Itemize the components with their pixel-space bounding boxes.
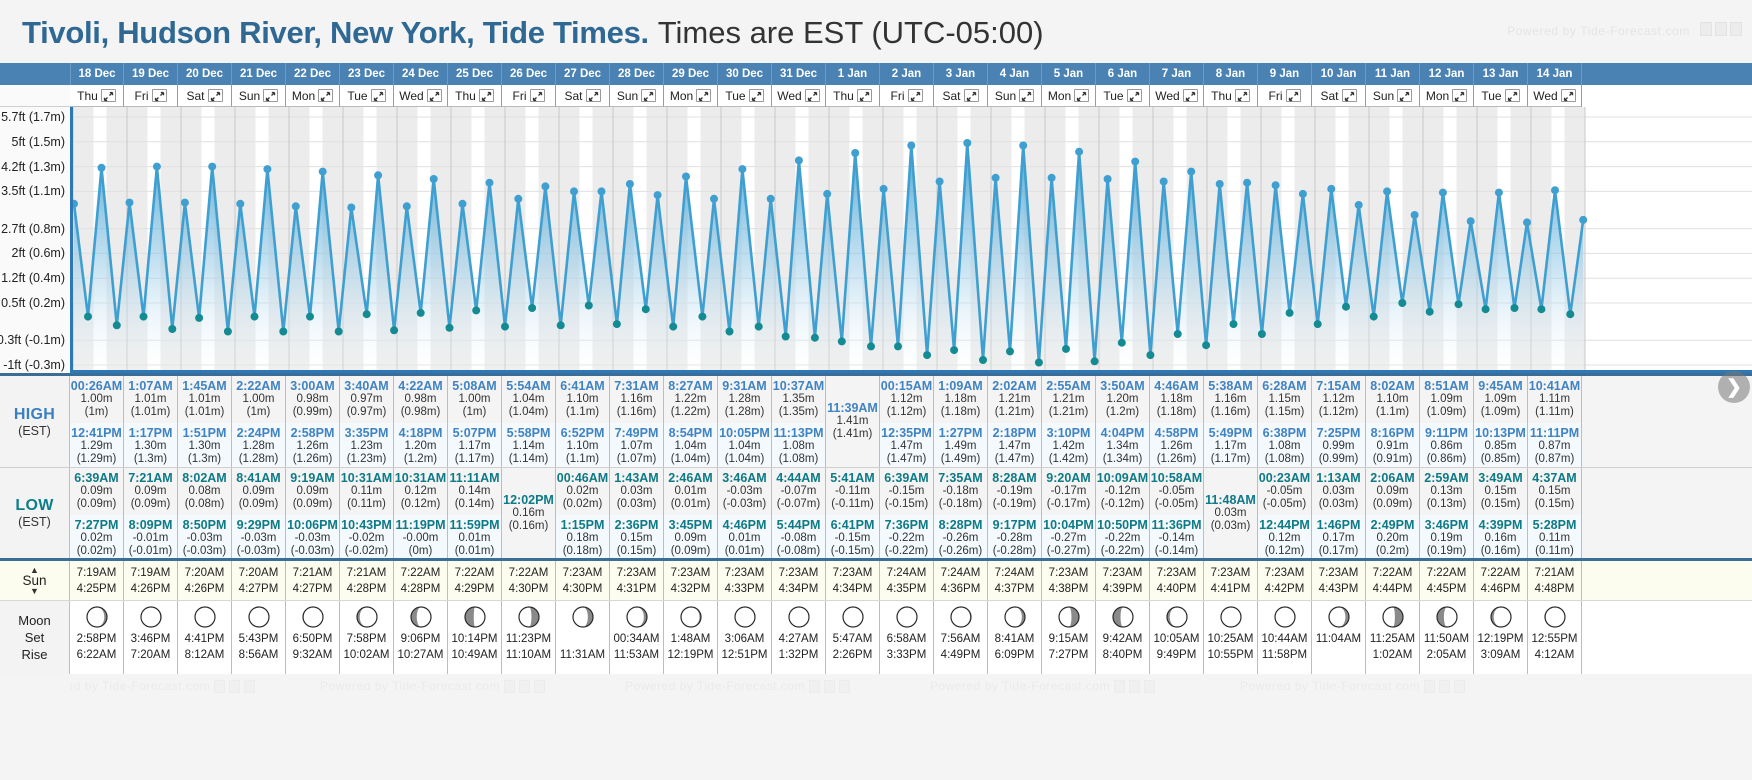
high-tide-height-alt: (1.01m) [178, 406, 231, 419]
high-tide-height-m: 1.17m [448, 440, 501, 453]
high-tide-cell: 9:45AM1.09m(1.09m)10:13PM0.85m(0.85m) [1474, 376, 1528, 467]
high-tide-height-alt: (1.2m) [394, 453, 447, 466]
high-tide-entry: 2:55AM1.21m(1.21m) [1042, 376, 1095, 423]
sun-cell: 7:22AM4:46PM [1474, 561, 1528, 600]
high-tide-cell: 5:54AM1.04m(1.04m)5:58PM1.14m(1.14m) [502, 376, 556, 467]
weekday-label: Sun [1373, 89, 1394, 103]
sunset-time: 4:27PM [239, 581, 279, 597]
high-tide-columns: 00:26AM1.00m(1m)12:41PM1.29m(1.29m)1:07A… [70, 376, 1752, 467]
sunrise-time: 7:24AM [995, 565, 1035, 581]
high-tide-cell: 00:15AM1.12m(1.12m)12:35PM1.47m(1.47m) [880, 376, 934, 467]
high-tide-entry: 5:54AM1.04m(1.04m) [502, 376, 555, 423]
date-header-11-jan[interactable]: 11 Jan [1366, 63, 1420, 85]
high-tide-time: 4:58PM [1150, 426, 1203, 440]
low-tide-entry: 10:31AM0.12m(0.12m) [394, 468, 447, 515]
date-header-18-dec[interactable]: 18 Dec [70, 63, 124, 85]
expand-icon[interactable] [1235, 89, 1250, 102]
high-tide-time: 2:55AM [1042, 379, 1095, 393]
expand-icon[interactable] [805, 89, 820, 102]
moon-phase-icon [1166, 606, 1188, 628]
tide-curve-svg [73, 107, 1752, 370]
moonset-time: 8:41AM [995, 631, 1035, 647]
high-tide-time: 7:15AM [1312, 379, 1365, 393]
low-tide-height-m: -0.03m [718, 485, 771, 498]
high-tide-entry: 00:15AM1.12m(1.12m) [880, 376, 933, 423]
expand-icon[interactable] [641, 89, 656, 102]
low-tide-time: 3:49AM [1474, 471, 1527, 485]
high-tide-time: 9:45AM [1474, 379, 1527, 393]
high-tide-label: HIGH (EST) [0, 376, 70, 467]
weekday-cell-wed: Wed [772, 85, 826, 107]
moonrise-time: 12:19PM [667, 647, 713, 663]
date-header-28-dec[interactable]: 28 Dec [610, 63, 664, 85]
weekday-label: Mon [1048, 89, 1071, 103]
moonset-time: 11:23PM [506, 631, 551, 647]
high-tide-height-m: 1.10m [556, 393, 609, 406]
high-tide-height-m: 1.28m [232, 440, 285, 453]
low-tide-height-alt: (0.03m) [1312, 498, 1365, 511]
low-tide-entry: 8:41AM0.09m(0.09m) [232, 468, 285, 515]
expand-icon[interactable] [1397, 89, 1412, 102]
low-tide-entry: 10:43PM-0.02m(-0.02m) [340, 515, 393, 558]
high-tide-entry: 10:05PM1.04m(1.04m) [718, 423, 771, 467]
sunset-time: 4:38PM [1049, 581, 1089, 597]
high-tide-time: 8:54PM [664, 426, 717, 440]
high-tide-height-m: 1.00m [232, 393, 285, 406]
sun-cell: 7:23AM4:39PM [1096, 561, 1150, 600]
sun-cell: 7:21AM4:28PM [340, 561, 394, 600]
moonset-time: 7:56AM [941, 631, 981, 647]
weekday-label: Thu [833, 89, 854, 103]
expand-icon[interactable] [1452, 89, 1467, 102]
low-tide-time: 10:09AM [1096, 471, 1149, 485]
low-tide-height-m: 0.19m [1420, 532, 1473, 545]
high-tide-time: 8:51AM [1420, 379, 1473, 393]
date-header-2-jan[interactable]: 2 Jan [880, 63, 934, 85]
date-header-21-dec[interactable]: 21 Dec [232, 63, 286, 85]
weekday-cell-mon: Mon [1042, 85, 1096, 107]
expand-icon[interactable] [530, 89, 545, 102]
high-tide-height-m: 0.99m [1312, 440, 1365, 453]
moonset-time: 12:19PM [1477, 631, 1523, 647]
expand-icon[interactable] [749, 89, 764, 102]
expand-icon[interactable] [586, 89, 601, 102]
expand-icon[interactable] [152, 89, 167, 102]
sunrise-time: 7:23AM [1319, 565, 1359, 581]
moonset-time: 11:50AM [1424, 631, 1469, 647]
low-tide-entry: 1:46PM0.17m(0.17m) [1312, 515, 1365, 558]
moonrise-time: 7:20AM [131, 647, 171, 663]
sunset-time: 4:25PM [77, 581, 117, 597]
moon-cell: 11:31AM [556, 601, 610, 674]
expand-icon[interactable] [1127, 89, 1142, 102]
high-tide-cell: 2:22AM1.00m(1m)2:24PM1.28m(1.28m) [232, 376, 286, 467]
high-tide-entry: 4:18PM1.20m(1.2m) [394, 423, 447, 467]
date-header-8-jan[interactable]: 8 Jan [1204, 63, 1258, 85]
weekday-label: Wed [1155, 89, 1179, 103]
high-tide-height-m: 1.21m [1042, 393, 1095, 406]
date-header-9-jan[interactable]: 9 Jan [1258, 63, 1312, 85]
date-header-24-dec[interactable]: 24 Dec [394, 63, 448, 85]
high-tide-height-m: 1.30m [178, 440, 231, 453]
weekday-cell-sun: Sun [1366, 85, 1420, 107]
high-tide-time: 1:51PM [178, 426, 231, 440]
date-header-29-dec[interactable]: 29 Dec [664, 63, 718, 85]
low-tide-time: 8:28AM [988, 471, 1041, 485]
low-tide-height-m: -0.17m [1042, 485, 1095, 498]
moonrise-time: 8:56AM [239, 647, 279, 663]
low-tide-height-alt: (0.14m) [448, 498, 501, 511]
high-tide-height-alt: (1.16m) [1204, 406, 1257, 419]
date-header-22-dec[interactable]: 22 Dec [286, 63, 340, 85]
high-tide-cell: 7:31AM1.16m(1.16m)7:49PM1.07m(1.07m) [610, 376, 664, 467]
expand-icon[interactable] [1074, 89, 1089, 102]
low-tide-height-m: -0.05m [1150, 485, 1203, 498]
expand-icon[interactable] [1561, 89, 1576, 102]
weekday-label: Mon [1426, 89, 1449, 103]
weekday-label: Tue [347, 89, 367, 103]
high-tide-height-alt: (1.26m) [286, 453, 339, 466]
watermark-top: Powered by Tide-Forecast.com [1507, 24, 1690, 38]
low-tide-height-alt: (-0.12m) [1096, 498, 1149, 511]
moonrise-time: 11:31AM [560, 647, 605, 663]
low-tide-entry: 8:28AM-0.19m(-0.19m) [988, 468, 1041, 515]
moon-cell: 11:23PM11:10AM [502, 601, 556, 674]
high-tide-height-alt: (1.09m) [1474, 406, 1527, 419]
low-tide-entry: 1:15PM0.18m(0.18m) [556, 515, 609, 558]
high-tide-height-m: 1.00m [70, 393, 123, 406]
low-tide-time: 1:13AM [1312, 471, 1365, 485]
high-tide-height-alt: (1.18m) [1150, 406, 1203, 419]
moon-cell: 6:50PM9:32AM [286, 601, 340, 674]
sunset-time: 4:34PM [779, 581, 819, 597]
high-tide-height-m: 1.17m [1204, 440, 1257, 453]
weekday-cell-mon: Mon [1420, 85, 1474, 107]
moonset-time: 10:14PM [451, 631, 497, 647]
low-tide-time: 4:46PM [718, 518, 771, 532]
expand-icon[interactable] [208, 89, 223, 102]
high-tide-height-m: 1.15m [1258, 393, 1311, 406]
high-tide-time: 1:27PM [934, 426, 987, 440]
low-tide-entry: 11:11AM0.14m(0.14m) [448, 468, 501, 515]
expand-icon[interactable] [1019, 89, 1034, 102]
low-tide-entry: 7:27PM0.02m(0.02m) [70, 515, 123, 558]
moonrise-time: 10:02AM [343, 647, 389, 663]
low-tide-height-m: -0.07m [772, 485, 825, 498]
scroll-right-button[interactable]: ❯ [1718, 371, 1750, 403]
high-tide-height-alt: (1.35m) [772, 406, 825, 419]
high-tide-entry: 11:13PM1.08m(1.08m) [772, 423, 825, 467]
high-tide-entry: 12:41PM1.29m(1.29m) [70, 423, 123, 467]
high-tide-height-m: 1.23m [340, 440, 393, 453]
moon-cell: 11:50AM2:05AM [1420, 601, 1474, 674]
high-tide-entry: 3:35PM1.23m(1.23m) [340, 423, 393, 467]
expand-icon[interactable] [427, 89, 442, 102]
moon-cell: 2:58PM6:22AM [70, 601, 124, 674]
high-tide-entry: 5:38AM1.16m(1.16m) [1204, 376, 1257, 423]
expand-icon[interactable] [696, 89, 711, 102]
moonrise-time: 4:49PM [941, 647, 981, 663]
weekday-cell-thu: Thu [1204, 85, 1258, 107]
high-tide-cell: 7:15AM1.12m(1.12m)7:25PM0.99m(0.99m) [1312, 376, 1366, 467]
low-tide-height-m: 0.15m [610, 532, 663, 545]
high-tide-entry: 5:49PM1.17m(1.17m) [1204, 423, 1257, 467]
page-header: Tivoli, Hudson River, New York, Tide Tim… [0, 0, 1752, 63]
moon-cell: 4:27AM1:32PM [772, 601, 826, 674]
high-tide-cell: 00:26AM1.00m(1m)12:41PM1.29m(1.29m) [70, 376, 124, 467]
tide-chart: 5.7ft (1.7m)5ft (1.5m)4.2ft (1.3m)3.5ft … [0, 107, 1752, 373]
high-tide-time: 10:05PM [718, 426, 771, 440]
low-tide-entry: 2:49PM0.20m(0.2m) [1366, 515, 1419, 558]
low-tide-entry: 00:23AM-0.05m(-0.05m) [1258, 468, 1311, 515]
high-tide-height-alt: (0.87m) [1528, 453, 1581, 466]
date-header-5-jan[interactable]: 5 Jan [1042, 63, 1096, 85]
weekday-header-row: ThuFriSatSunMonTueWedThuFriSatSunMonTueW… [0, 85, 1752, 107]
date-header-14-jan[interactable]: 14 Jan [1528, 63, 1582, 85]
low-tide-cell: 1:43AM0.03m(0.03m)2:36PM0.15m(0.15m) [610, 468, 664, 558]
low-tide-entry: 11:36PM-0.14m(-0.14m) [1150, 515, 1203, 558]
sun-cell: 7:23AM4:31PM [610, 561, 664, 600]
high-tide-cell: 10:41AM1.11m(1.11m)11:11PM0.87m(0.87m) [1528, 376, 1582, 467]
low-tide-height-m: -0.18m [934, 485, 987, 498]
moonrise-time: 10:49AM [451, 647, 497, 663]
low-tide-time: 12:02PM [502, 493, 555, 507]
high-tide-height-alt: (1.11m) [1528, 406, 1581, 419]
expand-icon[interactable] [1286, 89, 1301, 102]
moon-label-text: Moon [18, 612, 51, 629]
low-tide-cell: 7:21AM0.09m(0.09m)8:09PM-0.01m(-0.01m) [124, 468, 178, 558]
low-tide-height-m: -0.12m [1096, 485, 1149, 498]
moonset-time: 6:58AM [887, 631, 927, 647]
expand-icon[interactable] [1183, 89, 1198, 102]
low-tide-height-alt: (0.12m) [1258, 545, 1311, 558]
high-tide-cell: 8:51AM1.09m(1.09m)9:11PM0.86m(0.86m) [1420, 376, 1474, 467]
moon-cell: 6:58AM3:33PM [880, 601, 934, 674]
high-tide-time: 7:25PM [1312, 426, 1365, 440]
sunrise-time: 7:23AM [563, 565, 603, 581]
high-tide-height-alt: (1.47m) [988, 453, 1041, 466]
date-header-4-jan[interactable]: 4 Jan [988, 63, 1042, 85]
high-tide-cell: 8:27AM1.22m(1.22m)8:54PM1.04m(1.04m) [664, 376, 718, 467]
expand-icon[interactable] [263, 89, 278, 102]
date-header-31-dec[interactable]: 31 Dec [772, 63, 826, 85]
high-tide-height-m: 1.29m [70, 440, 123, 453]
high-tide-height-m: 1.20m [394, 440, 447, 453]
low-tide-cell: 00:46AM0.02m(0.02m)1:15PM0.18m(0.18m) [556, 468, 610, 558]
low-tide-height-m: 0.18m [556, 532, 609, 545]
high-tide-entry: 11:39AM1.41m(1.41m) [826, 376, 879, 467]
sunset-time: 4:28PM [401, 581, 441, 597]
moon-phase-icon [1436, 606, 1458, 628]
high-tide-cell: 10:37AM1.35m(1.35m)11:13PM1.08m(1.08m) [772, 376, 826, 467]
date-header-7-jan[interactable]: 7 Jan [1150, 63, 1204, 85]
moon-cell: 11:25AM1:02AM [1366, 601, 1420, 674]
expand-icon[interactable] [101, 89, 116, 102]
date-header-3-jan[interactable]: 3 Jan [934, 63, 988, 85]
weekday-label: Tue [725, 89, 745, 103]
expand-icon[interactable] [318, 89, 333, 102]
low-tide-time: 4:37AM [1528, 471, 1581, 485]
high-tide-time: 6:41AM [556, 379, 609, 393]
high-tide-time: 3:10PM [1042, 426, 1095, 440]
high-tide-time: 5:08AM [448, 379, 501, 393]
high-tide-height-alt: (0.86m) [1420, 453, 1473, 466]
date-header-30-dec[interactable]: 30 Dec [718, 63, 772, 85]
high-tide-height-alt: (1.04m) [502, 406, 555, 419]
moon-cell: 3:46PM7:20AM [124, 601, 178, 674]
weekday-cell-mon: Mon [664, 85, 718, 107]
low-tide-height-m: 0.09m [232, 485, 285, 498]
low-tide-height-alt: (0.11m) [340, 498, 393, 511]
low-tide-time: 1:46PM [1312, 518, 1365, 532]
low-tide-height-m: 0.09m [664, 532, 717, 545]
weekday-cell-tue: Tue [718, 85, 772, 107]
sunrise-time: 7:20AM [185, 565, 225, 581]
high-tide-height-alt: (0.97m) [340, 406, 393, 419]
low-tide-cell: 8:28AM-0.19m(-0.19m)9:17PM-0.28m(-0.28m) [988, 468, 1042, 558]
high-tide-height-m: 1.08m [772, 440, 825, 453]
moon-phase-icon [1058, 606, 1080, 628]
high-tide-entry: 7:31AM1.16m(1.16m) [610, 376, 663, 423]
low-tide-entry: 5:41AM-0.11m(-0.11m) [826, 468, 879, 515]
date-header-6-jan[interactable]: 6 Jan [1096, 63, 1150, 85]
low-tide-entry: 10:31AM0.11m(0.11m) [340, 468, 393, 515]
sun-cell: 7:23AM4:33PM [718, 561, 772, 600]
low-tide-time: 8:28PM [934, 518, 987, 532]
high-tide-height-alt: (1.09m) [1420, 406, 1473, 419]
weekday-cell-wed: Wed [1150, 85, 1204, 107]
sunset-time: 4:48PM [1535, 581, 1575, 597]
high-tide-height-m: 1.01m [178, 393, 231, 406]
low-tide-cell: 4:37AM0.15m(0.15m)5:28PM0.11m(0.11m) [1528, 468, 1582, 558]
high-tide-entry: 11:11PM0.87m(0.87m) [1528, 423, 1581, 467]
high-tide-entry: 6:38PM1.08m(1.08m) [1258, 423, 1311, 467]
moon-phase-icon [302, 606, 324, 628]
y-axis-tick-label: 5ft (1.5m) [12, 135, 66, 149]
date-header-10-jan[interactable]: 10 Jan [1312, 63, 1366, 85]
high-tide-time: 8:27AM [664, 379, 717, 393]
high-tide-cell: 11:39AM1.41m(1.41m) [826, 376, 880, 467]
high-tide-entry: 3:10PM1.42m(1.42m) [1042, 423, 1095, 467]
y-axis-tick-label: 5.7ft (1.7m) [1, 110, 65, 124]
moonrise-time: 9:32AM [293, 647, 333, 663]
moon-cell: 9:06PM10:27AM [394, 601, 448, 674]
low-tide-time: 00:23AM [1258, 471, 1311, 485]
high-tide-height-alt: (0.99m) [286, 406, 339, 419]
moon-cell: 10:14PM10:49AM [448, 601, 502, 674]
high-tide-time: 6:52PM [556, 426, 609, 440]
low-tide-entry: 3:46PM0.19m(0.19m) [1420, 515, 1473, 558]
high-tide-cell: 1:45AM1.01m(1.01m)1:51PM1.30m(1.3m) [178, 376, 232, 467]
date-header-12-jan[interactable]: 12 Jan [1420, 63, 1474, 85]
high-tide-height-m: 1.28m [718, 393, 771, 406]
date-header-19-dec[interactable]: 19 Dec [124, 63, 178, 85]
sun-cell: 7:21AM4:48PM [1528, 561, 1582, 600]
date-header-23-dec[interactable]: 23 Dec [340, 63, 394, 85]
low-tide-entry: 8:50PM-0.03m(-0.03m) [178, 515, 231, 558]
moonset-time: 11:25AM [1370, 631, 1415, 647]
low-tide-time: 6:39AM [70, 471, 123, 485]
low-tide-height-m: -0.03m [178, 532, 231, 545]
low-tide-height-alt: (-0.15m) [880, 498, 933, 511]
low-tide-entry: 4:44AM-0.07m(-0.07m) [772, 468, 825, 515]
high-tide-height-alt: (1.12m) [1312, 406, 1365, 419]
high-tide-entry: 4:58PM1.26m(1.26m) [1150, 423, 1203, 467]
sun-cell: 7:22AM4:45PM [1420, 561, 1474, 600]
low-tide-entry: 5:28PM0.11m(0.11m) [1528, 515, 1581, 558]
high-tide-entry: 1:51PM1.30m(1.3m) [178, 423, 231, 467]
sunset-time: 4:26PM [185, 581, 225, 597]
high-tide-height-m: 1.00m [448, 393, 501, 406]
high-tide-cell: 4:46AM1.18m(1.18m)4:58PM1.26m(1.26m) [1150, 376, 1204, 467]
high-tide-time: 10:41AM [1528, 379, 1581, 393]
expand-icon[interactable] [908, 89, 923, 102]
low-tide-time: 1:43AM [610, 471, 663, 485]
high-tide-entry: 2:24PM1.28m(1.28m) [232, 423, 285, 467]
chart-plot-area[interactable] [70, 107, 1752, 373]
low-tide-time: 11:36PM [1150, 518, 1203, 532]
low-tide-height-alt: (0.09m) [286, 498, 339, 511]
low-tide-height-m: 0.09m [1366, 485, 1419, 498]
moonrise-time: 3:33PM [887, 647, 927, 663]
weekday-label: Thu [1211, 89, 1232, 103]
moonset-time: 9:42AM [1103, 631, 1143, 647]
expand-icon[interactable] [857, 89, 872, 102]
high-tide-cell: 6:41AM1.10m(1.1m)6:52PM1.10m(1.1m) [556, 376, 610, 467]
date-header-20-dec[interactable]: 20 Dec [178, 63, 232, 85]
sunset-time: 4:28PM [347, 581, 387, 597]
low-tide-time: 10:31AM [340, 471, 393, 485]
footer-watermark: Powered by Tide-Forecast.com [1240, 679, 1465, 693]
low-tide-time: 10:58AM [1150, 471, 1203, 485]
high-tide-entry: 1:45AM1.01m(1.01m) [178, 376, 231, 423]
expand-icon[interactable] [1505, 89, 1520, 102]
high-tide-timezone: (EST) [18, 424, 51, 438]
moonset-label: Set [25, 629, 45, 646]
sun-cell: 7:23AM4:32PM [664, 561, 718, 600]
low-tide-time: 9:17PM [988, 518, 1041, 532]
high-tide-height-alt: (1m) [232, 406, 285, 419]
date-header-27-dec[interactable]: 27 Dec [556, 63, 610, 85]
low-tide-height-m: 0.17m [1312, 532, 1365, 545]
low-tide-height-m: -0.22m [880, 532, 933, 545]
date-header-13-jan[interactable]: 13 Jan [1474, 63, 1528, 85]
high-tide-entry: 1:17PM1.30m(1.3m) [124, 423, 177, 467]
date-header-1-jan[interactable]: 1 Jan [826, 63, 880, 85]
high-tide-height-m: 1.18m [934, 393, 987, 406]
expand-icon[interactable] [371, 89, 386, 102]
expand-icon[interactable] [479, 89, 494, 102]
footer-watermark: Powered by Tide-Forecast.com [70, 679, 255, 693]
low-tide-height-alt: (0.09m) [1366, 498, 1419, 511]
low-tide-time: 4:39PM [1474, 518, 1527, 532]
low-tide-height-alt: (-0.05m) [1150, 498, 1203, 511]
low-tide-entry: 4:37AM0.15m(0.15m) [1528, 468, 1581, 515]
date-header-25-dec[interactable]: 25 Dec [448, 63, 502, 85]
low-tide-height-alt: (0.02m) [70, 545, 123, 558]
low-tide-height-alt: (0.11m) [1528, 545, 1581, 558]
tide-forecast-page: Tivoli, Hudson River, New York, Tide Tim… [0, 0, 1752, 780]
low-tide-entry: 7:21AM0.09m(0.09m) [124, 468, 177, 515]
low-tide-cell: 00:23AM-0.05m(-0.05m)12:44PM0.12m(0.12m) [1258, 468, 1312, 558]
weekday-cell-fri: Fri [1258, 85, 1312, 107]
expand-icon[interactable] [964, 89, 979, 102]
low-tide-height-m: 0.15m [1474, 485, 1527, 498]
moon-cell: 12:19PM3:09AM [1474, 601, 1528, 674]
sunset-time: 4:29PM [455, 581, 495, 597]
expand-icon[interactable] [1342, 89, 1357, 102]
date-header-26-dec[interactable]: 26 Dec [502, 63, 556, 85]
